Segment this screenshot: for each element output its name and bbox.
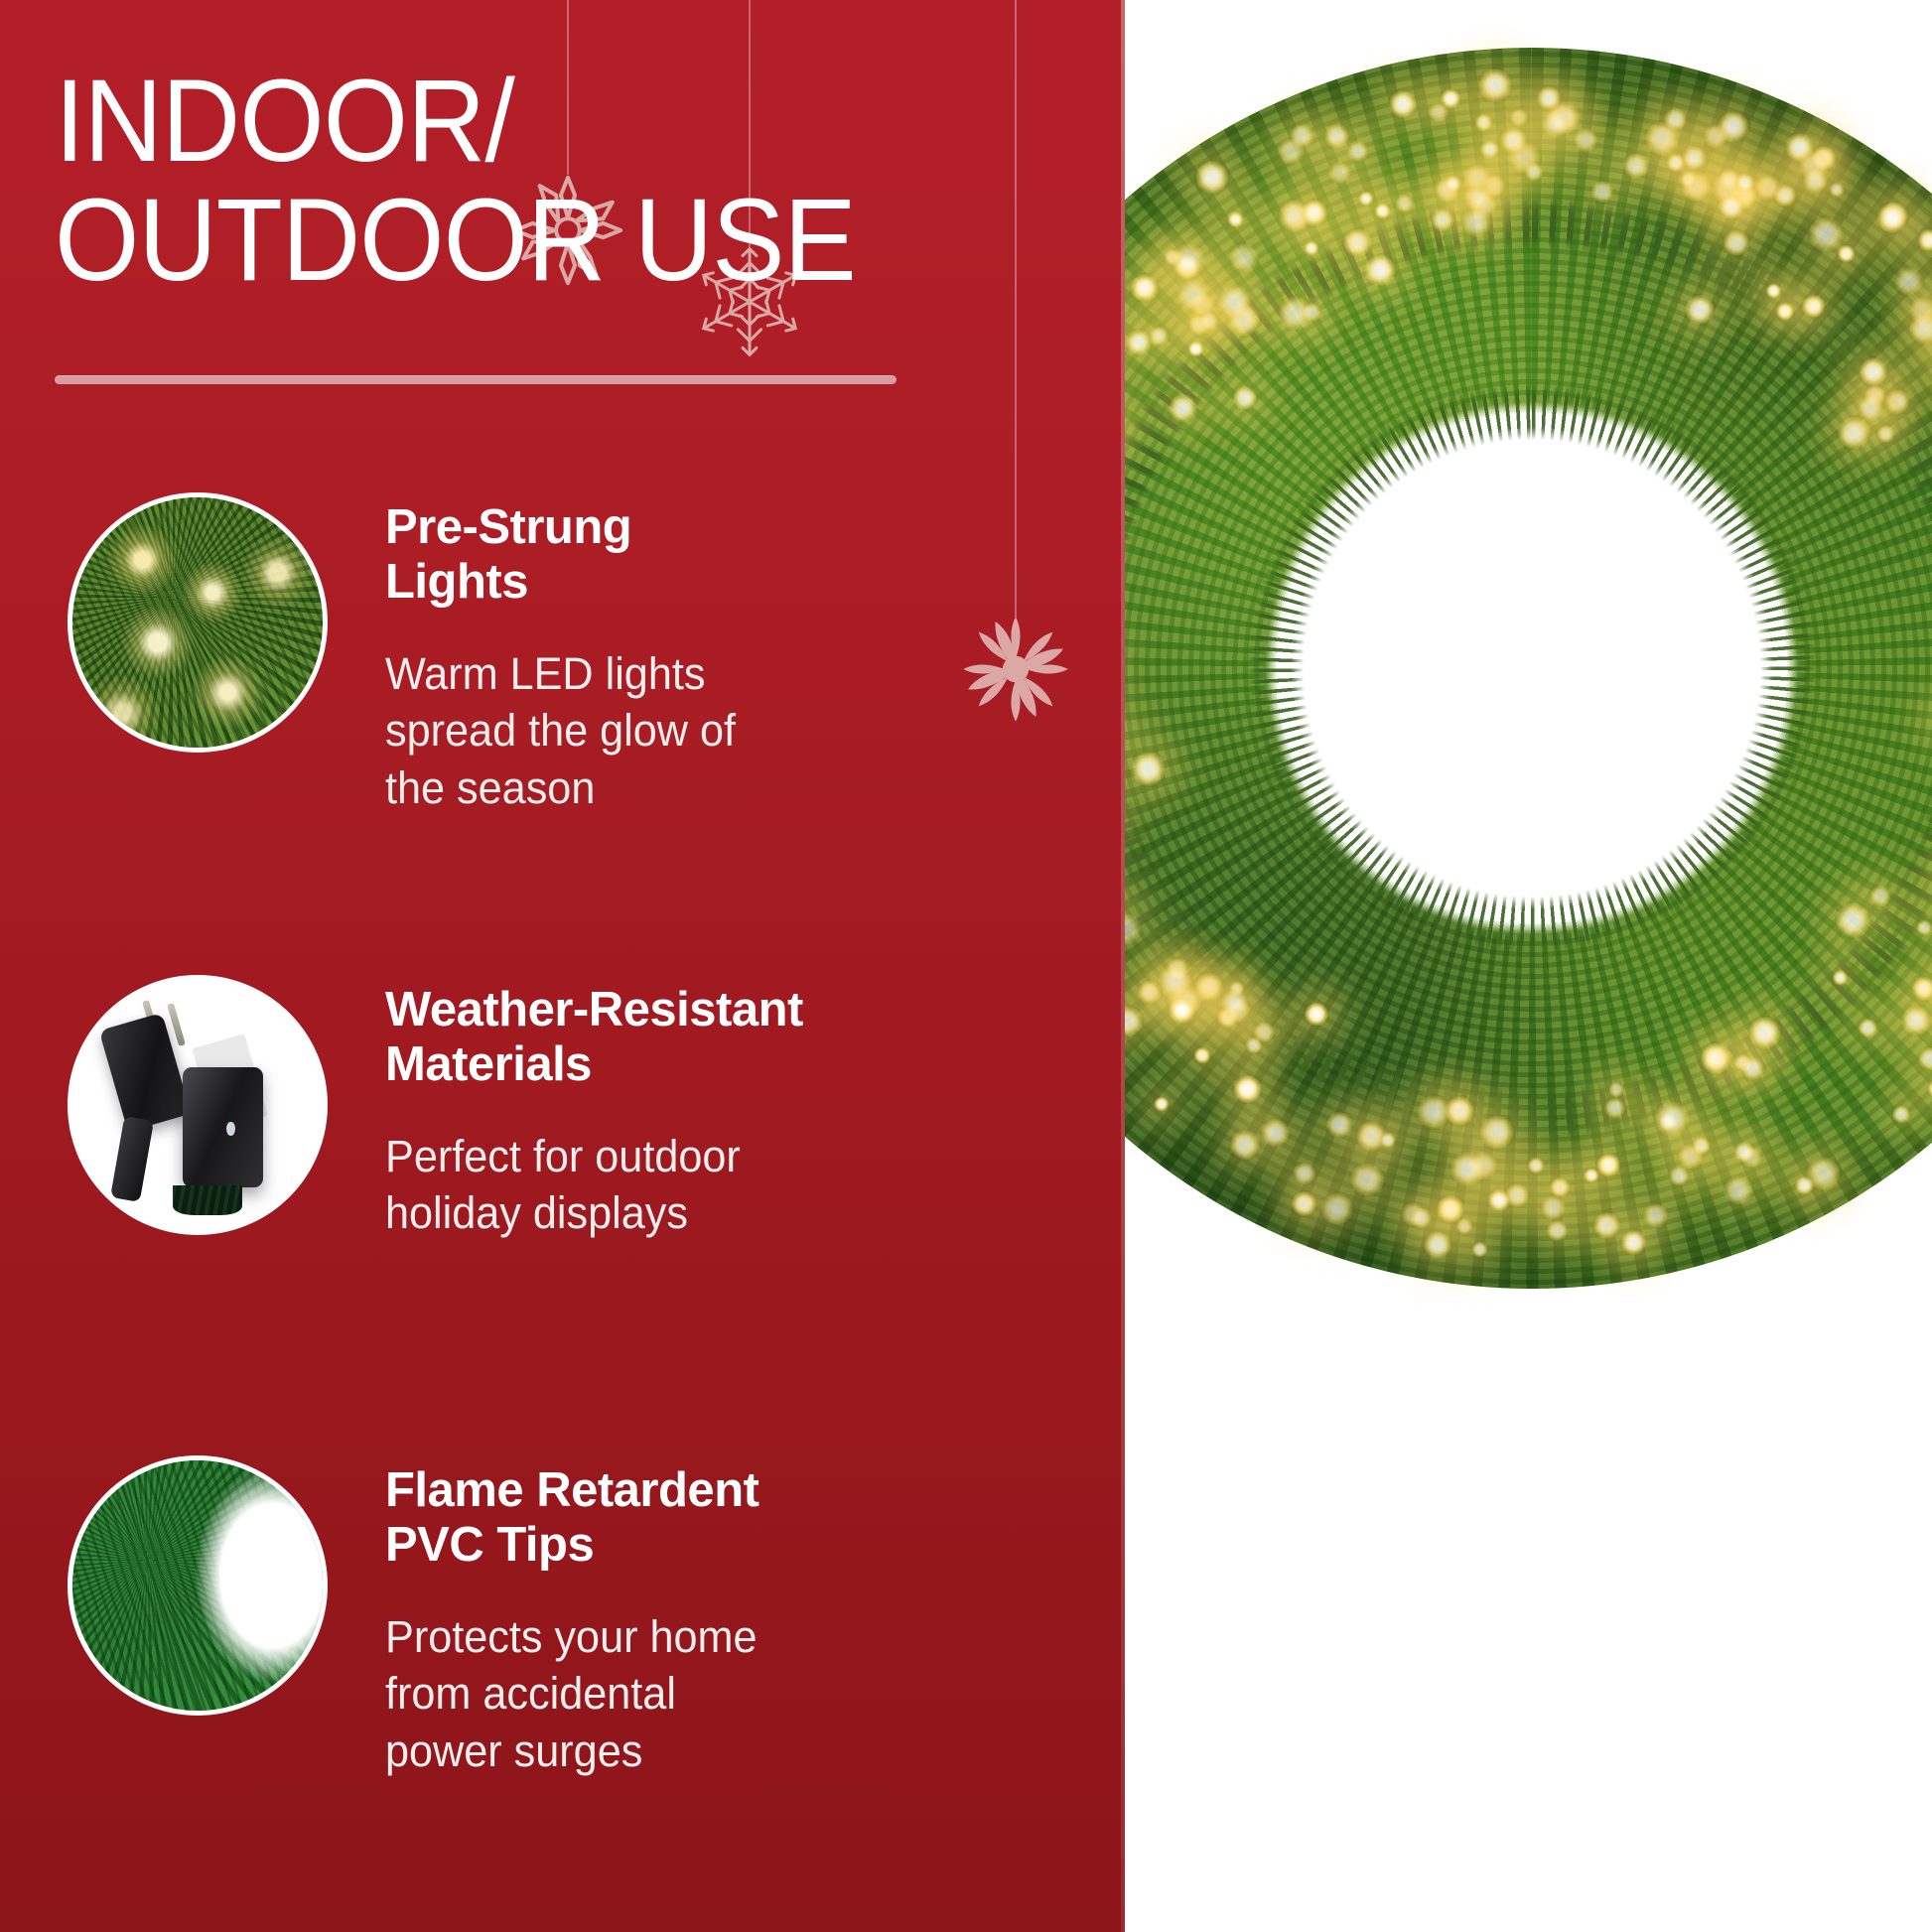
weather-resistant-materials-photo [68, 975, 328, 1235]
page-title-block: INDOOR/ OUTDOOR USE [55, 62, 1047, 301]
flame-retardent-pvc-tips-photo [68, 1455, 328, 1716]
feature-text: Flame Retardent PVC Tips Protects your h… [385, 1455, 961, 1780]
feature-heading: Flame Retardent PVC Tips [385, 1463, 961, 1573]
feature-body: Protects your home from accidental power… [385, 1608, 938, 1780]
page-title: INDOOR/ OUTDOOR USE [55, 62, 978, 301]
title-divider [55, 375, 897, 384]
lit-pine-branches-image [72, 497, 323, 748]
feature-heading: Weather-Resistant Materials [385, 983, 961, 1092]
pvc-branch-tips-image [72, 1460, 323, 1711]
feature-heading: Pre-Strung Lights [385, 500, 961, 610]
transformer-wires [173, 1185, 243, 1215]
feature-text: Pre-Strung Lights Warm LED lights spread… [385, 492, 961, 817]
plug-cord [110, 1116, 154, 1202]
feature-item: Flame Retardent PVC Tips Protects your h… [0, 1455, 1125, 1780]
transformer-indicator [226, 1122, 235, 1137]
wreath-inner-edge [1125, 48, 1932, 1289]
feature-item: Weather-Resistant Materials Perfect for … [0, 975, 1125, 1242]
feature-item: Pre-Strung Lights Warm LED lights spread… [0, 492, 1125, 817]
pre-strung-lights-photo [68, 492, 328, 753]
feature-body: Warm LED lights spread the glow of the s… [385, 645, 938, 817]
feature-panel: INDOOR/ OUTDOOR USE Pre-Strung Lights Wa… [0, 0, 1125, 1932]
feature-text: Weather-Resistant Materials Perfect for … [385, 975, 961, 1242]
feature-body: Perfect for outdoor holiday displays [385, 1128, 938, 1242]
power-adapter-image [72, 980, 323, 1230]
transformer-box [183, 1067, 263, 1187]
prelit-christmas-wreath [1125, 48, 1932, 1289]
infographic-canvas: INDOOR/ OUTDOOR USE Pre-Strung Lights Wa… [0, 0, 1932, 1932]
product-photo-panel [1125, 0, 1932, 1932]
